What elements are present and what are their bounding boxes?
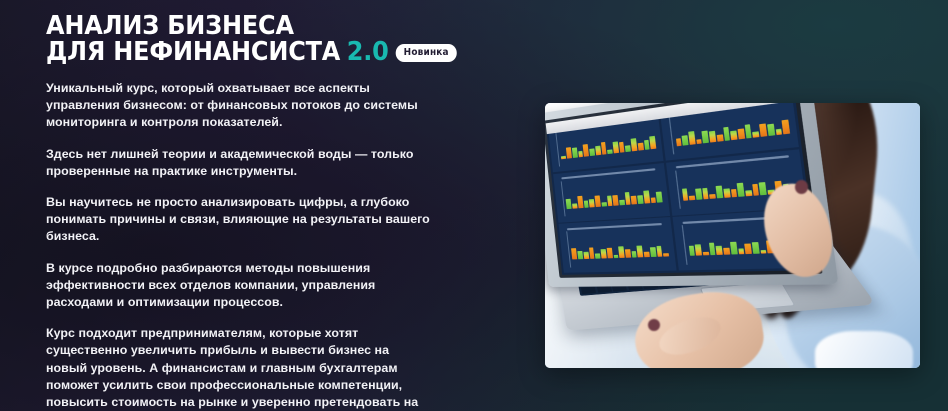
chart-bar (696, 139, 702, 144)
chart-bar (722, 127, 730, 141)
chart-bar (744, 124, 752, 138)
chart-bar (577, 196, 583, 208)
chart-bar (624, 192, 630, 204)
hero-photo (545, 103, 920, 368)
chart-bar (723, 247, 730, 255)
chart-bar (612, 141, 618, 153)
description-paragraph: Уникальный курс, который охватывает все … (46, 80, 431, 132)
chart-bar (702, 188, 709, 200)
chart-bar (588, 247, 594, 259)
chart-bar (566, 147, 572, 159)
description-paragraph: В курсе подробно разбираются методы повы… (46, 260, 431, 312)
chart-bar (643, 191, 650, 204)
chart-bar (681, 188, 688, 201)
chart-bar (702, 130, 709, 142)
title-line-1: АНАЛИЗ БИЗНЕСА (46, 13, 414, 39)
chart-bar (594, 195, 600, 207)
dashboard-chart-panel (558, 217, 677, 273)
chart-bar (760, 250, 767, 254)
content-column: АНАЛИЗ БИЗНЕСА ДЛЯ НЕФИНАНСИСТА 2.0 Нови… (46, 13, 438, 411)
chart-bar (600, 249, 606, 259)
chart-bar (649, 136, 656, 149)
chart-bar (618, 142, 624, 153)
chart-bar (612, 195, 618, 206)
description-text: Уникальный курс, который охватывает все … (46, 80, 438, 411)
hero-section: АНАЛИЗ БИЗНЕСА ДЛЯ НЕФИНАНСИСТА 2.0 Нови… (0, 0, 948, 411)
chart-bar (589, 199, 595, 208)
chart-bar (650, 198, 656, 204)
chart-bar (643, 140, 649, 149)
chart-bar (689, 195, 695, 200)
chart-bar (753, 132, 760, 137)
chart-bar (589, 148, 595, 155)
chart-bar (744, 244, 751, 255)
chart-bar (637, 142, 643, 150)
chart-bar (600, 142, 606, 154)
chart-bar (637, 245, 644, 258)
chart-bar (688, 131, 695, 144)
chart-bar (759, 183, 767, 196)
person-sleeve-cuff (815, 331, 913, 368)
chart-bar (644, 251, 650, 257)
chart-bar (656, 191, 663, 202)
title-version: 2.0 (347, 39, 389, 65)
chart-bar (729, 241, 737, 255)
chart-bar (737, 183, 745, 197)
chart-bar (759, 124, 767, 137)
chart-bar (767, 123, 775, 135)
page-title: АНАЛИЗ БИЗНЕСА ДЛЯ НЕФИНАНСИСТА 2.0 Нови… (46, 13, 438, 65)
chart-bar (695, 244, 702, 256)
chart-bar (583, 252, 589, 260)
chart-bar (709, 131, 716, 142)
chart-bar (702, 252, 708, 256)
chart-bar (716, 245, 723, 255)
chart-bar (782, 119, 790, 133)
chart-bar (637, 196, 643, 204)
keyboard-key (596, 286, 612, 294)
chart-bar (723, 188, 730, 197)
chart-bar (716, 135, 723, 142)
chart-bar (708, 243, 715, 256)
description-paragraph: Здесь нет лишней теории и академической … (46, 146, 431, 180)
chart-bar (656, 245, 663, 257)
chart-bar (688, 245, 695, 256)
chart-bar (751, 241, 759, 254)
chart-bar (663, 253, 669, 257)
chart-bar (752, 184, 760, 196)
chart-bar (730, 188, 737, 197)
chart-bar (649, 247, 655, 257)
title-line-2: ДЛЯ НЕФИНАНСИСТА (46, 39, 340, 65)
chart-bar (619, 200, 625, 205)
description-paragraph: Курс подходит предпринимателям, которые … (46, 325, 431, 411)
chart-bar (625, 145, 631, 151)
chart-bar (631, 251, 637, 258)
chart-bar (577, 251, 583, 259)
chart-bar (682, 135, 689, 145)
chart-bar (675, 138, 681, 146)
chart-bar (571, 248, 577, 260)
chart-bar (715, 185, 722, 198)
chart-bar (738, 248, 745, 255)
chart-bar (625, 249, 631, 258)
dashboard-chart-panel (553, 163, 671, 223)
chart-bar (607, 150, 612, 154)
person-nail-lower (648, 319, 660, 331)
description-paragraph: Вы научитесь не просто анализировать циф… (46, 194, 431, 246)
chart-bar (583, 144, 589, 156)
chart-bar (606, 195, 612, 206)
chart-bar (572, 203, 577, 209)
title-line-2-row: ДЛЯ НЕФИНАНСИСТА 2.0 Новинка (46, 39, 414, 65)
chart-bar (630, 138, 637, 151)
status-badge-new: Новинка (395, 44, 457, 62)
chart-bar (595, 145, 601, 155)
chart-bar (566, 199, 572, 209)
person-nail-upper (795, 180, 808, 194)
chart-bar (578, 150, 583, 157)
chart-bar (618, 246, 624, 258)
chart-bar (709, 193, 715, 198)
chart-bar (561, 155, 566, 158)
chart-bar (601, 202, 606, 207)
chart-bar (737, 129, 744, 139)
chart-bar (572, 148, 578, 158)
chart-bar (606, 248, 612, 259)
chart-bar (730, 131, 737, 140)
chart-bar (631, 196, 637, 205)
photo-inner (545, 103, 920, 368)
chart-bar (745, 190, 752, 196)
chart-bar (775, 128, 782, 134)
chart-bar (583, 200, 589, 208)
keyboard-key (580, 287, 595, 295)
chart-bar (695, 188, 702, 200)
chart-bar (613, 255, 618, 259)
chart-bar (595, 254, 600, 259)
